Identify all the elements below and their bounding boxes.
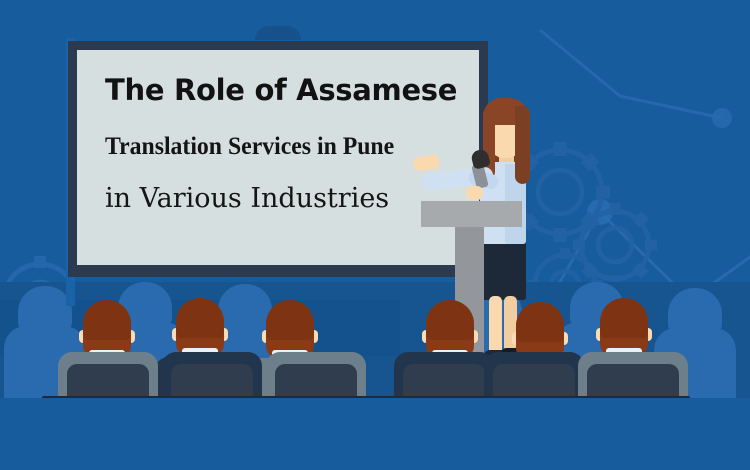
podium-desk <box>421 201 522 227</box>
chair <box>394 352 494 400</box>
speaker-hair-side <box>515 106 530 184</box>
screen-mount-bracket <box>255 26 301 40</box>
gear-icon <box>573 203 657 287</box>
line-graph-node-icon <box>712 108 732 128</box>
title-line-2: Translation Services in Pune <box>105 134 460 159</box>
banner-graphic: The Role of Assamese Translation Service… <box>0 0 750 470</box>
chair <box>578 352 688 400</box>
title-line-1: The Role of Assamese <box>105 76 479 105</box>
floor-area <box>0 398 750 470</box>
chair <box>484 352 584 400</box>
chair <box>58 352 158 400</box>
speaker-mic-hand <box>466 186 483 200</box>
chair <box>266 352 366 400</box>
speaker-skirt <box>481 238 526 300</box>
line-graph-node-icon <box>587 199 613 225</box>
speaker-leg <box>489 296 502 358</box>
chair <box>162 352 262 400</box>
